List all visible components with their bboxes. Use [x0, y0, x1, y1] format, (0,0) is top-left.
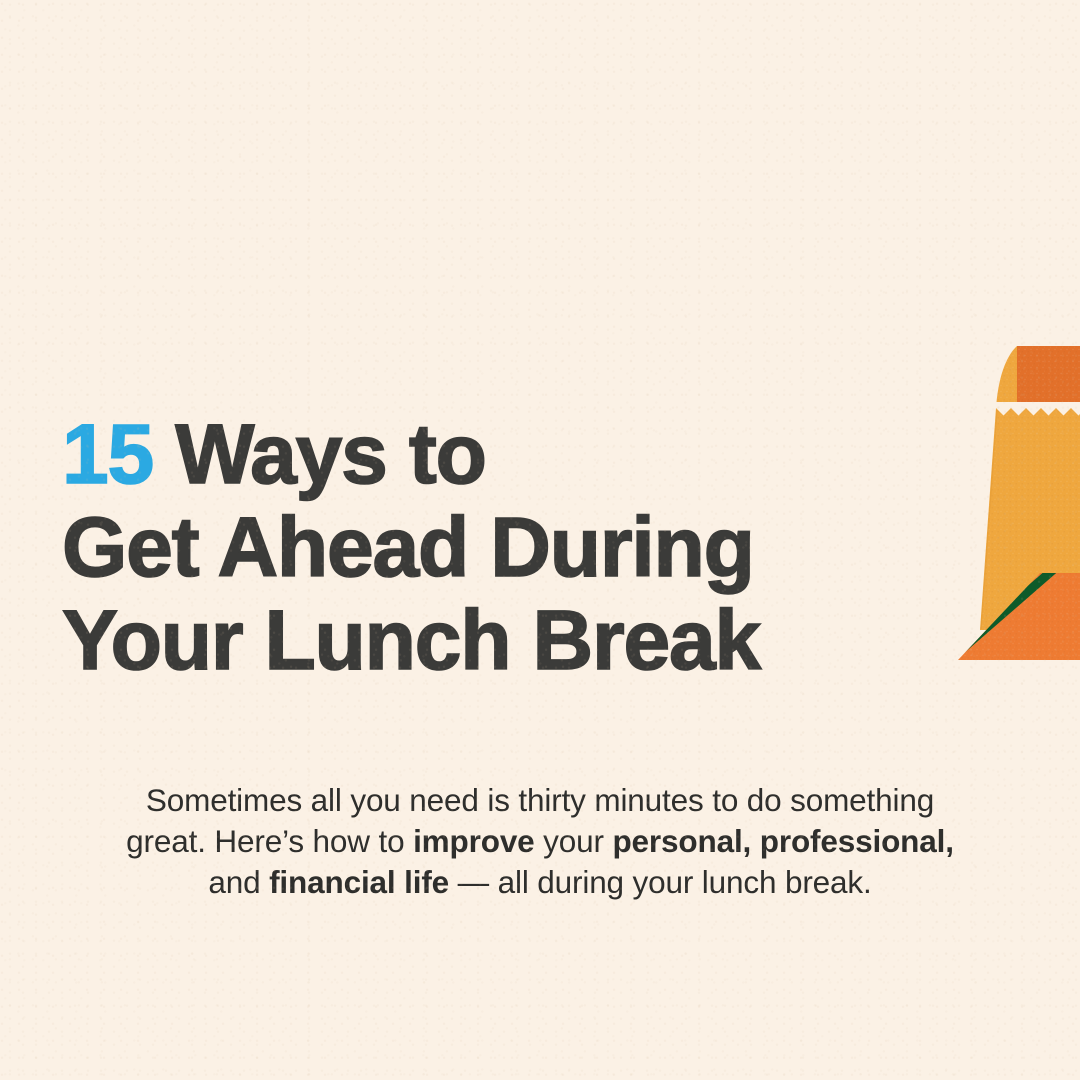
deck-line-3-segment-2: financial life: [269, 864, 449, 900]
headline-count: 15: [62, 407, 153, 501]
bag-top-fold: [1017, 346, 1080, 408]
poster-canvas: 15 Ways to Get Ahead During Your Lunch B…: [0, 0, 1080, 1080]
deck-paragraph: Sometimes all you need is thirty minutes…: [40, 780, 1040, 903]
lunch-bag-illustration: [940, 330, 1080, 680]
deck-line-2: great. Here’s how to improve your person…: [40, 821, 1040, 862]
headline-line-1-text: Ways to: [175, 407, 486, 501]
deck-line-3: and financial life — all during your lun…: [40, 862, 1040, 903]
deck-line-1: Sometimes all you need is thirty minutes…: [40, 780, 1040, 821]
headline-line-1: 15 Ways to: [62, 408, 902, 501]
deck-line-2-segment-3: your: [535, 823, 613, 859]
deck-line-1-segment-1: Sometimes all you need is thirty minutes…: [146, 782, 934, 818]
bag-top-left-curve: [996, 346, 1017, 408]
deck-line-2-segment-1: great. Here’s how to: [126, 823, 413, 859]
deck-line-2-segment-2: improve: [413, 823, 535, 859]
deck-line-3-segment-3: — all during your lunch break.: [449, 864, 872, 900]
deck-line-2-segment-4: personal, professional,: [612, 823, 953, 859]
headline-line-2: Get Ahead During: [62, 501, 902, 594]
headline-line-3: Your Lunch Break: [62, 594, 902, 687]
page-title: 15 Ways to Get Ahead During Your Lunch B…: [62, 408, 902, 687]
deck-line-3-segment-1: and: [208, 864, 269, 900]
